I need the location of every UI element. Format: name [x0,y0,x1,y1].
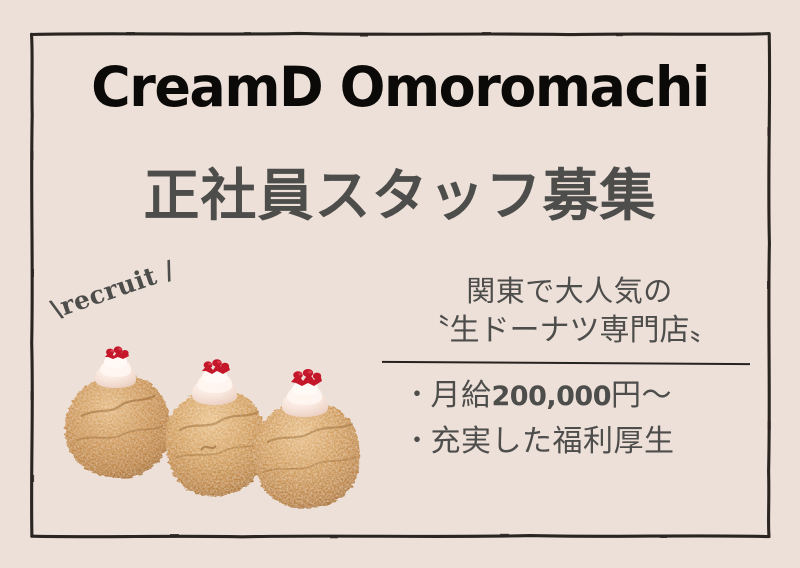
bullet-text-before: 充実した福利厚生 [431,424,675,459]
donut-middle [165,359,266,496]
list-item: ・月給200,000円〜 [404,373,757,419]
bullet-marker: ・ [404,380,431,410]
recruitment-poster: CreamD Omoromachi 正社員スタッフ募集 \recruit / [0,0,800,568]
recruit-badge: \recruit / [47,255,178,324]
list-item: ・充実した福利厚生 [404,419,757,465]
benefits-list: ・月給200,000円〜 ・充実した福利厚生 [382,373,757,464]
lede-line-1: 関東で大人気の [382,272,757,311]
donut-photo [58,330,368,510]
details-block: 関東で大人気の 〝生ドーナツ専門店〟 ・月給200,000円〜 ・充実した福利厚… [382,272,757,464]
divider [382,361,750,365]
donut-right [254,369,360,508]
lede-line-2: 〝生ドーナツ専門店〟 [382,311,757,352]
bullet-number: 200,000 [492,381,611,412]
bullet-marker: ・ [404,426,431,456]
donut-left [65,346,170,478]
bullet-text-before: 月給 [431,378,492,413]
bullet-text-after: 円〜 [611,378,672,413]
page-title: CreamD Omoromachi [8,60,792,115]
subtitle-heading: 正社員スタッフ募集 [0,168,800,227]
